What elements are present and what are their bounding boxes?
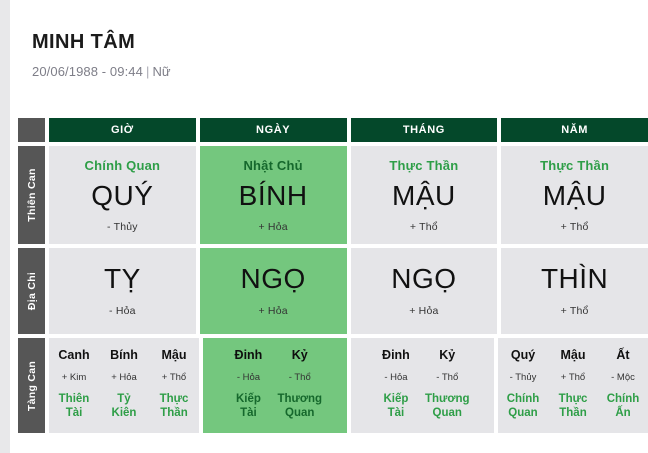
hidden-stem-star: Chính Ấn [602,392,644,420]
dia-chi-cell-ngay[interactable]: NGỌ + Hỏa [200,248,347,334]
star-line-2: Thần [559,407,586,419]
star-line-2: Tài [66,407,83,419]
thien-can-row: Thiên Can Chính Quan QUÝ - Thủy Nhật Chủ… [18,146,648,244]
star-line-2: Quan [285,407,314,419]
hidden-stem: Đinh - Hỏa Kiếp Tài [223,349,273,420]
hidden-stem-star: Chính Quan [502,392,544,420]
birth-info: 20/06/1988 - 09:44|Nữ [32,64,648,79]
earthly-branch: NGỌ [240,265,305,293]
hidden-stem-star: Tỷ Kiên [103,392,145,420]
hidden-stem-name: Đinh [227,349,269,363]
element-label: + Hỏa [409,305,438,317]
hidden-stem-element: - Hỏa [375,373,417,383]
earthly-branch: THÌN [541,265,608,293]
element-label: - Thủy [107,221,138,233]
star-line-2: Ấn [615,407,630,419]
element-label: + Thổ [410,221,438,233]
dia-chi-cell-gio[interactable]: TỴ - Hỏa [49,248,196,334]
birth-datetime: 20/06/1988 - 09:44 [32,64,143,79]
hidden-stem: Đinh - Hỏa Kiếp Tài [371,349,421,420]
hidden-stem-name: Ất [602,349,644,363]
hidden-stem: Kỷ - Thổ Thương Quan [421,349,474,420]
heavenly-stem: BÍNH [239,182,308,210]
hidden-stem: Kỷ - Thổ Thương Quan [273,349,326,420]
star-line-2: Quan [433,407,462,419]
hidden-stem-element: - Thủy [502,373,544,383]
table-header-row: GIỜ NGÀY THÁNG NĂM [18,118,648,142]
star-line-1: Chính [507,393,540,405]
thien-can-cell-ngay[interactable]: Nhật Chủ BÍNH + Hỏa [200,146,347,244]
star-line-1: Kiếp [383,393,408,405]
hidden-stem-name: Quý [502,349,544,363]
hidden-stem-star: Thiên Tài [53,392,95,420]
page-title: MINH TÂM [32,30,648,54]
earthly-branch: NGỌ [391,265,456,293]
hidden-stem-element: - Hỏa [227,373,269,383]
hidden-stem-name: Đinh [375,349,417,363]
hidden-stem-star: Thực Thần [153,392,195,420]
dia-chi-row: Địa Chi TỴ - Hỏa NGỌ + Hỏa NGỌ + Hỏa THÌ… [18,248,648,334]
hidden-stem-element: - Mộc [602,373,644,383]
star-line-1: Kiếp [236,393,261,405]
hidden-stem-element: + Hỏa [103,373,145,383]
hidden-stem: Mậu + Thổ Thực Thần [149,349,199,420]
hidden-stem-star: Thực Thần [552,392,594,420]
profile-header: MINH TÂM 20/06/1988 - 09:44|Nữ [10,0,648,79]
column-header-ngay: NGÀY [200,118,347,142]
hidden-stem-star: Thương Quan [277,392,322,420]
star-line-2: Kiên [112,407,137,419]
element-label: - Hỏa [109,305,136,317]
star-line-2: Tài [240,407,257,419]
thien-can-cell-thang[interactable]: Thực Thần MẬU + Thổ [351,146,498,244]
thien-can-cell-gio[interactable]: Chính Quan QUÝ - Thủy [49,146,196,244]
element-label: + Hỏa [258,305,287,317]
row-label-thien-can-text: Thiên Can [26,168,38,221]
hidden-stem-name: Kỷ [277,349,322,363]
hidden-stem: Bính + Hỏa Tỷ Kiên [99,349,149,420]
star-line-1: Tỷ [117,393,130,405]
tang-can-cell-nam[interactable]: Quý - Thủy Chính Quan Mậu + Thổ Thực Thầ… [498,338,648,433]
star-line-1: Thực [160,393,189,405]
hidden-stem-element: - Thổ [277,373,322,383]
row-label-dia-chi: Địa Chi [18,248,45,334]
dia-chi-cell-thang[interactable]: NGỌ + Hỏa [351,248,498,334]
row-label-dia-chi-text: Địa Chi [26,272,38,310]
heavenly-stem: MẬU [392,182,456,210]
hidden-stem-element: + Thổ [552,373,594,383]
star-line-1: Chính [607,393,640,405]
column-header-thang: THÁNG [351,118,498,142]
column-header-gio: GIỜ [49,118,196,142]
hidden-stem: Canh + Kim Thiên Tài [49,349,99,420]
dia-chi-cell-nam[interactable]: THÌN + Thổ [501,248,648,334]
ten-god-label: Nhật Chủ [243,158,302,173]
hidden-stem-name: Kỷ [425,349,470,363]
star-line-1: Thiên [59,393,90,405]
heavenly-stem: MẬU [543,182,607,210]
star-line-1: Thương [277,393,322,405]
hidden-stem: Mậu + Thổ Thực Thần [548,349,598,420]
bazi-card: MINH TÂM 20/06/1988 - 09:44|Nữ GIỜ NGÀY … [10,0,648,453]
row-label-thien-can: Thiên Can [18,146,45,244]
hidden-stem-name: Canh [53,349,95,363]
star-line-2: Thần [160,407,187,419]
hidden-stem-name: Mậu [153,349,195,363]
column-header-nam: NĂM [501,118,648,142]
bazi-table: GIỜ NGÀY THÁNG NĂM Thiên Can Chính Quan … [18,118,648,433]
ten-god-label: Thực Thần [389,158,458,173]
hidden-stem-name: Bính [103,349,145,363]
tang-can-row: Tàng Can Canh + Kim Thiên Tài Bính + Hỏa [18,338,648,433]
element-label: + Thổ [561,221,589,233]
row-label-tang-can: Tàng Can [18,338,45,433]
heavenly-stem: QUÝ [91,182,153,210]
ten-god-label: Thực Thần [540,158,609,173]
hidden-stem-star: Thương Quan [425,392,470,420]
thien-can-cell-nam[interactable]: Thực Thần MẬU + Thổ [501,146,648,244]
row-label-tang-can-text: Tàng Can [26,360,38,410]
tang-can-cell-gio[interactable]: Canh + Kim Thiên Tài Bính + Hỏa Tỷ Kiên [49,338,199,433]
ten-god-label: Chính Quan [85,158,161,173]
hidden-stem-star: Kiếp Tài [227,392,269,420]
hidden-stem-star: Kiếp Tài [375,392,417,420]
star-line-2: Quan [508,407,537,419]
corner-cell [18,118,45,142]
tang-can-cell-ngay[interactable]: Đinh - Hỏa Kiếp Tài Kỷ - Thổ Thương Quan [203,338,347,433]
hidden-stem-element: + Thổ [153,373,195,383]
gender-label: Nữ [152,64,170,79]
element-label: + Thổ [561,305,589,317]
tang-can-cell-thang[interactable]: Đinh - Hỏa Kiếp Tài Kỷ - Thổ Thương Quan [351,338,495,433]
hidden-stem-element: + Kim [53,373,95,383]
hidden-stem-name: Mậu [552,349,594,363]
hidden-stem-element: - Thổ [425,373,470,383]
hidden-stem: Ất - Mộc Chính Ấn [598,349,648,420]
info-separator: | [143,64,152,79]
earthly-branch: TỴ [104,265,141,293]
star-line-1: Thực [559,393,588,405]
hidden-stem: Quý - Thủy Chính Quan [498,349,548,420]
element-label: + Hỏa [258,221,287,233]
star-line-1: Thương [425,393,470,405]
page-root: MINH TÂM 20/06/1988 - 09:44|Nữ GIỜ NGÀY … [0,0,648,453]
star-line-2: Tài [388,407,405,419]
